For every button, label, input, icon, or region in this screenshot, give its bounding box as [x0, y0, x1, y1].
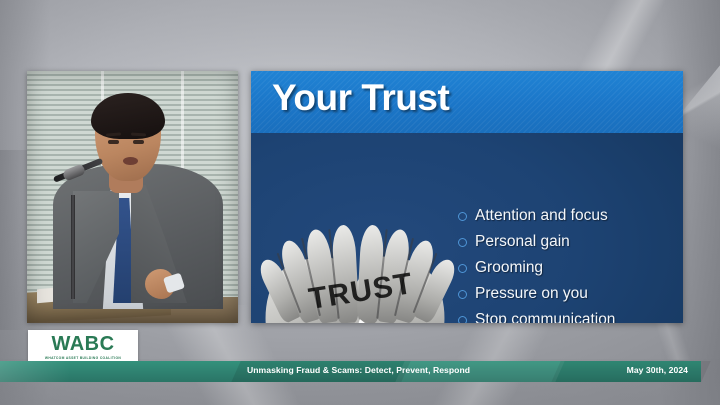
- circle-bullet-icon: [458, 238, 467, 247]
- bullet-item-attention-and-focus: Attention and focus: [458, 207, 676, 225]
- logo-tagline: WHATCOM ASSET BUILDING COALITION: [45, 356, 121, 360]
- bullet-item-stop-communication: Stop communication: [458, 311, 676, 323]
- slide-body: TRUST Attention and focus Personal gain …: [251, 133, 683, 323]
- speaker-mouth: [123, 157, 138, 165]
- presentation-stage: Your Trust: [0, 0, 720, 405]
- bullet-item-pressure-on-you: Pressure on you: [458, 285, 676, 303]
- footer-banner: Unmasking Fraud & Scams: Detect, Prevent…: [0, 361, 701, 382]
- logo-acronym: WABC: [51, 334, 114, 354]
- bullet-label: Pressure on you: [475, 285, 588, 303]
- footer-presentation-title: Unmasking Fraud & Scams: Detect, Prevent…: [247, 365, 470, 375]
- background-facet-top: [0, 0, 720, 70]
- speaker-eye-left: [108, 140, 119, 144]
- bullet-label: Personal gain: [475, 233, 570, 251]
- slide-title: Your Trust: [272, 79, 449, 118]
- microphone-stand: [71, 195, 75, 299]
- slide-panel: Your Trust: [251, 71, 683, 323]
- slide-bullet-list: Attention and focus Personal gain Groomi…: [458, 207, 676, 323]
- circle-bullet-icon: [458, 264, 467, 273]
- bullet-label: Grooming: [475, 259, 543, 277]
- footer-date: May 30th, 2024: [627, 365, 688, 375]
- bullet-label: Attention and focus: [475, 207, 608, 225]
- bullet-item-grooming: Grooming: [458, 259, 676, 277]
- circle-bullet-icon: [458, 212, 467, 221]
- background-facet-mid-left: [0, 150, 30, 330]
- speaker-video-panel: [27, 71, 238, 323]
- open-hands-image: TRUST: [263, 205, 455, 323]
- bullet-item-personal-gain: Personal gain: [458, 233, 676, 251]
- wabc-logo: WABC WHATCOM ASSET BUILDING COALITION: [28, 330, 138, 363]
- circle-bullet-icon: [458, 316, 467, 323]
- bullet-label: Stop communication: [475, 311, 615, 323]
- slide-header-bar: Your Trust: [251, 71, 683, 133]
- circle-bullet-icon: [458, 290, 467, 299]
- speaker-eye-right: [133, 140, 144, 144]
- footer-facet-1: [0, 361, 70, 382]
